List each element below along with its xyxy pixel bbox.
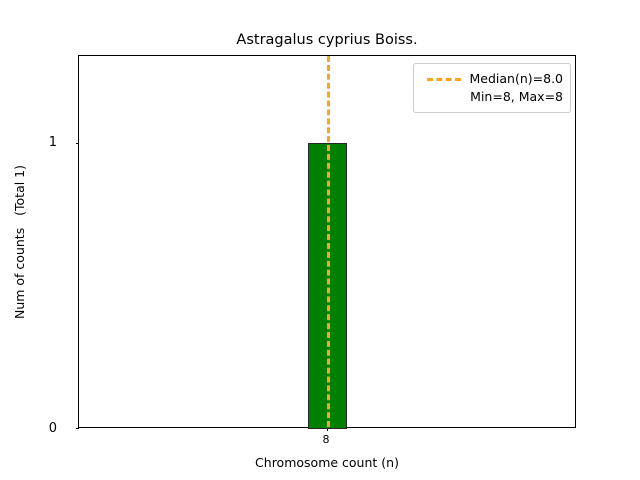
y-axis-label: Num of counts (Total 1) xyxy=(12,164,28,318)
legend-item-minmax: Min=8, Max=8 xyxy=(421,88,563,106)
legend: Median(n)=8.0 Min=8, Max=8 xyxy=(413,63,571,113)
legend-item-median: Median(n)=8.0 xyxy=(421,70,563,88)
chart-title: Astragalus cyprius Boiss. xyxy=(78,31,576,49)
legend-dashed-line-sample-icon xyxy=(427,78,461,81)
y-tick-mark-0 xyxy=(76,428,80,429)
plot-area: Median(n)=8.0 Min=8, Max=8 xyxy=(78,55,576,428)
legend-label-median: Median(n)=8.0 xyxy=(470,71,564,87)
y-tick-label-1: 1 xyxy=(49,136,57,149)
y-axis-label-secondary: (Total 1) xyxy=(12,164,27,215)
x-tick-label-8: 8 xyxy=(323,434,330,446)
median-line xyxy=(327,56,330,427)
y-tick-mark-1 xyxy=(76,143,80,144)
y-axis-label-container: Num of counts (Total 1) xyxy=(0,55,40,428)
chart-figure: Astragalus cyprius Boiss. Num of counts … xyxy=(0,0,640,480)
x-axis-label: Chromosome count (n) xyxy=(78,455,576,470)
legend-label-minmax: Min=8, Max=8 xyxy=(470,89,563,105)
y-axis-label-primary: Num of counts xyxy=(12,227,27,318)
y-tick-label-0: 0 xyxy=(49,422,57,435)
